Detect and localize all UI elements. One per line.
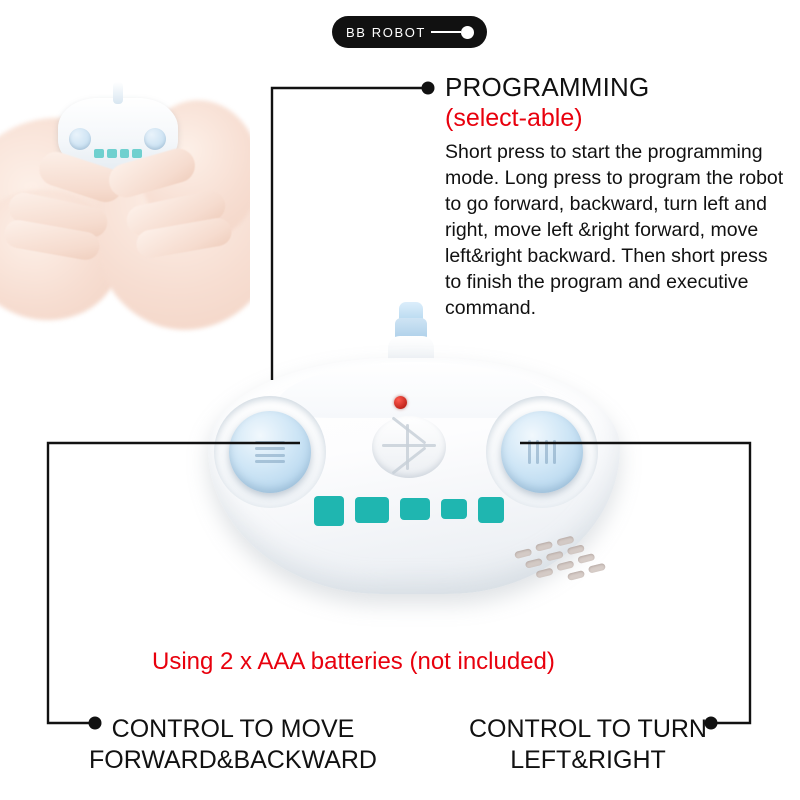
right-caption: CONTROL TO TURN LEFT&RIGHT: [438, 714, 738, 775]
left-control-stick[interactable]: [229, 411, 311, 493]
product-badge: BB ROBOT: [332, 16, 487, 48]
left-stick-grip-lines: [255, 441, 285, 463]
remote-controller-illustration: [196, 300, 632, 630]
left-caption-line1: CONTROL TO MOVE: [78, 714, 388, 745]
right-caption-line1: CONTROL TO TURN: [438, 714, 738, 745]
right-stick-grip-lines: [528, 440, 556, 464]
center-emblem: [372, 416, 446, 478]
right-control-stick[interactable]: [501, 411, 583, 493]
inset-teeth-graphic: [94, 146, 142, 158]
badge-divider-line: [431, 31, 461, 33]
left-caption-line2: FORWARD&BACKWARD: [78, 745, 388, 776]
programming-title: PROGRAMMING: [445, 72, 649, 103]
inset-left-stick: [69, 128, 91, 150]
teeth-decoration: [314, 496, 504, 530]
left-caption: CONTROL TO MOVE FORWARD&BACKWARD: [78, 714, 388, 775]
inset-antenna-icon: [113, 82, 123, 104]
programming-subtitle: (select-able): [445, 104, 583, 133]
inset-right-stick: [144, 128, 166, 150]
right-caption-line2: LEFT&RIGHT: [438, 745, 738, 776]
badge-label: BB ROBOT: [346, 25, 426, 40]
battery-note: Using 2 x AAA batteries (not included): [152, 648, 555, 676]
status-led-indicator: [394, 396, 407, 409]
hands-holding-controller-photo: [0, 40, 250, 340]
programming-description: Short press to start the programming mod…: [445, 140, 785, 321]
filled-circle-icon: [461, 26, 474, 39]
